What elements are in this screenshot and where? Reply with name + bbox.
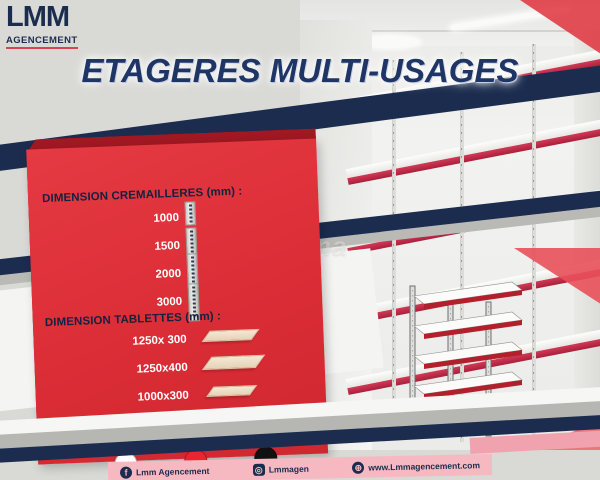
page-title: ETAGERES MULTI-USAGES (0, 52, 600, 90)
facebook-icon: f (120, 466, 132, 478)
section-heading-cremailleres: DIMENSION CREMAILLERES (mm) : (42, 185, 243, 205)
instagram-icon: ◎ (253, 463, 265, 475)
tablette-row-label: 1250x400 (83, 362, 188, 378)
footer-website-label: www.Lmmagencement.com (368, 460, 480, 472)
footer-facebook[interactable]: f Lmm Agencement (120, 464, 210, 478)
logo-wordmark: LMM (6, 4, 84, 30)
cremaillere-row-label: 2000 (91, 268, 181, 283)
shelf-board-icon (206, 385, 257, 397)
section-heading-tablettes: DIMENSION TABLETTES (mm) : (45, 310, 222, 329)
shelf-board-icon (201, 329, 259, 342)
tablette-row-label: 1250x 300 (82, 334, 187, 350)
logo-tagline: AGENCEMENT (6, 35, 78, 49)
shelf-board-icon (202, 355, 266, 370)
cremaillere-row-label: 3000 (92, 296, 182, 311)
cremaillere-row-label: 1500 (90, 240, 180, 255)
brand-logo: LMM AGENCEMENT (6, 4, 84, 49)
footer-instagram[interactable]: ◎ Lmmagen (253, 462, 309, 475)
perforated-rail-icon (185, 227, 197, 256)
footer-instagram-label: Lmmagen (269, 463, 309, 474)
footer-facebook-label: Lmm Agencement (136, 465, 210, 477)
footer-website[interactable]: ⊕ www.Lmmagencement.com (352, 459, 480, 474)
globe-icon: ⊕ (352, 461, 364, 473)
perforated-rail-icon (184, 201, 196, 225)
decorative-wedge-top (520, 0, 600, 60)
tablette-row-label: 1000x300 (84, 390, 189, 406)
cremaillere-row-label: 1000 (89, 212, 179, 227)
poster-canvas: LMM AGENCEMENT ETAGERES MULTI-USAGES AVI… (0, 0, 600, 480)
